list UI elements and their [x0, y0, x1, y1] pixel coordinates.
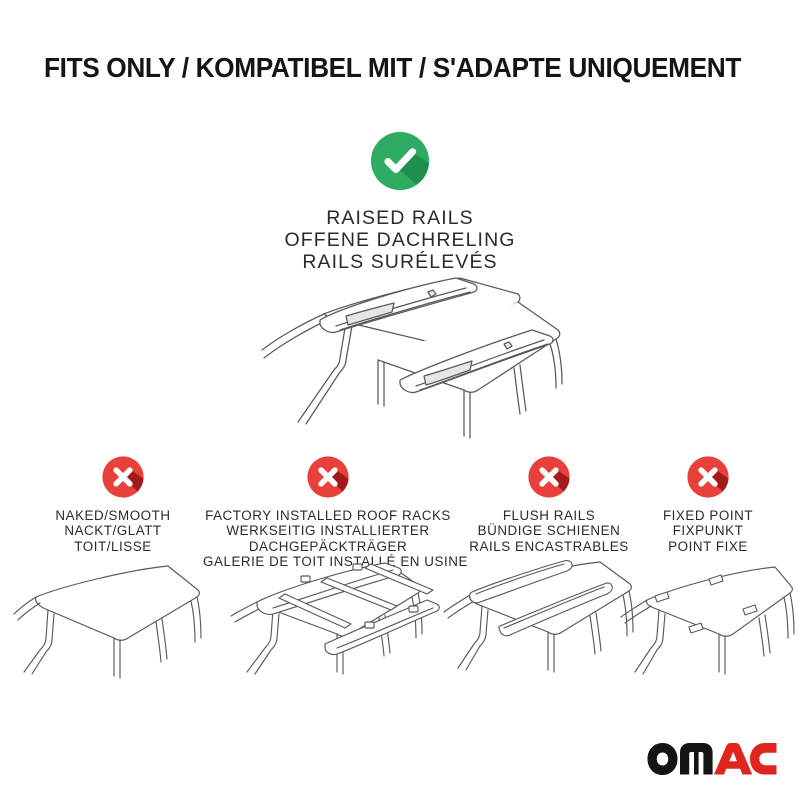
x-circle-icon [686, 455, 730, 499]
incompatible-labels: NAKED/SMOOTH NACKT/GLATT TOIT/LISSE [10, 508, 216, 554]
incompatible-item-fixed-point: FIXED POINT FIXPUNKT POINT FIXE [628, 455, 788, 554]
incompatible-label-line-1: FIXED POINT [628, 508, 788, 523]
compatible-label-line-3: RAILS SURÉLEVÉS [0, 251, 800, 273]
omac-logo [646, 742, 778, 776]
incompatible-label-line-3: TOIT/LISSE [10, 539, 216, 554]
x-circle-icon [527, 455, 571, 499]
compatible-label-line-2: OFFENE DACHRELING [0, 229, 800, 251]
incompatible-label-line-2: NACKT/GLATT [10, 523, 216, 538]
fixed-point-illustration [615, 552, 800, 697]
compatible-labels: RAISED RAILS OFFENE DACHRELING RAILS SUR… [0, 207, 800, 273]
incompatible-item-flush-rails: FLUSH RAILS BÜNDIGE SCHIENEN RAILS ENCAS… [450, 455, 648, 554]
factory-roof-racks-illustration [213, 548, 448, 698]
incompatible-label-line-2: WERKSEITIG INSTALLIERTER [203, 523, 453, 538]
incompatible-labels: FIXED POINT FIXPUNKT POINT FIXE [628, 508, 788, 554]
page-title: FITS ONLY / KOMPATIBEL MIT / S'ADAPTE UN… [44, 54, 741, 83]
raised-rails-illustration [228, 272, 578, 452]
incompatible-label-line-1: NAKED/SMOOTH [10, 508, 216, 523]
incompatible-label-line-2: FIXPUNKT [628, 523, 788, 538]
incompatible-label-line-1: FACTORY INSTALLED ROOF RACKS [203, 508, 453, 523]
incompatible-labels: FLUSH RAILS BÜNDIGE SCHIENEN RAILS ENCAS… [450, 508, 648, 554]
incompatible-label-line-1: FLUSH RAILS [450, 508, 648, 523]
incompatible-item-naked-smooth: NAKED/SMOOTH NACKT/GLATT TOIT/LISSE [10, 455, 216, 554]
compatible-section: RAISED RAILS OFFENE DACHRELING RAILS SUR… [0, 130, 800, 273]
check-circle-icon [369, 130, 431, 192]
x-circle-icon [101, 455, 145, 499]
incompatible-label-line-2: BÜNDIGE SCHIENEN [450, 523, 648, 538]
compatible-label-line-1: RAISED RAILS [0, 207, 800, 229]
naked-smooth-illustration [8, 560, 213, 695]
x-circle-icon [306, 455, 350, 499]
